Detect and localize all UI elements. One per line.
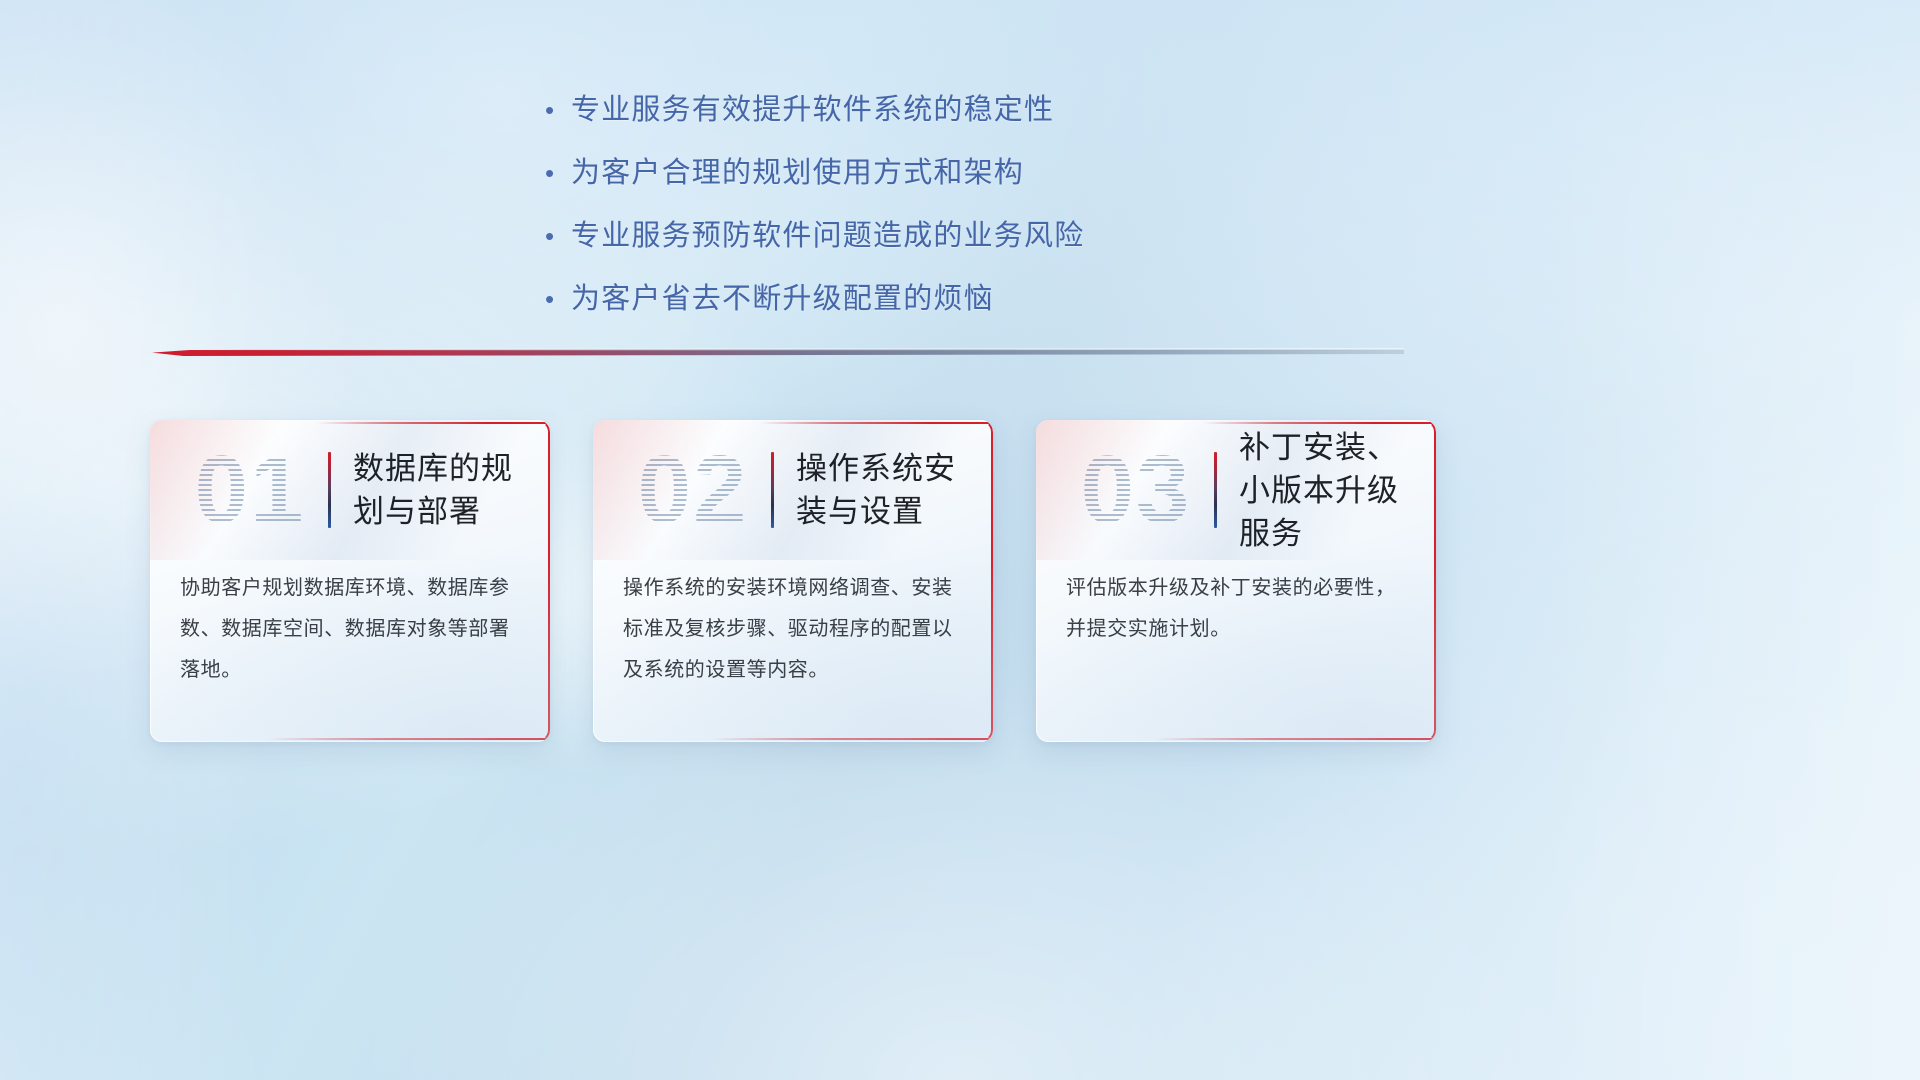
card-header: 02 操作系统安装与设置 [593,420,993,560]
bullet-text: 为客户省去不断升级配置的烦恼 [571,279,994,319]
card-body-text: 操作系统的安装环境网络调查、安装标准及复核步骤、驱动程序的配置以及系统的设置等内… [593,560,993,691]
card-divider-rule [771,452,774,528]
card-body-text: 协助客户规划数据库环境、数据库参数、数据库空间、数据库对象等部署落地。 [150,560,550,691]
card-number-watermark: 01 [176,434,324,546]
list-item: • 为客户省去不断升级配置的烦恼 [545,279,1084,342]
card-title: 补丁安装、小版本升级服务 [1239,426,1410,555]
bullet-text: 专业服务预防软件问题造成的业务风险 [571,216,1084,256]
card-title: 操作系统安装与设置 [796,447,967,533]
service-card-03[interactable]: 03 补丁安装、小版本升级服务 评估版本升级及补丁安装的必要性，并提交实施计划。 [1036,420,1436,742]
list-item: • 专业服务预防软件问题造成的业务风险 [545,216,1084,279]
bullet-text: 为客户合理的规划使用方式和架构 [571,153,1024,193]
bullet-text: 专业服务有效提升软件系统的稳定性 [571,90,1054,130]
bullet-list: • 专业服务有效提升软件系统的稳定性 • 为客户合理的规划使用方式和架构 • 专… [545,90,1084,342]
card-divider-rule [328,452,331,528]
service-card-02[interactable]: 02 操作系统安装与设置 操作系统的安装环境网络调查、安装标准及复核步骤、驱动程… [593,420,993,742]
card-title: 数据库的规划与部署 [353,447,524,533]
list-item: • 专业服务有效提升软件系统的稳定性 [545,90,1084,153]
bullet-dot-icon: • [545,216,571,256]
card-header: 01 数据库的规划与部署 [150,420,550,560]
bullet-dot-icon: • [545,279,571,319]
list-item: • 为客户合理的规划使用方式和架构 [545,153,1084,216]
card-number-watermark: 03 [1062,434,1210,546]
bullet-dot-icon: • [545,153,571,193]
card-number-watermark: 02 [619,434,767,546]
card-divider-rule [1214,452,1217,528]
card-list: 01 数据库的规划与部署 协助客户规划数据库环境、数据库参数、数据库空间、数据库… [150,420,1436,742]
service-card-01[interactable]: 01 数据库的规划与部署 协助客户规划数据库环境、数据库参数、数据库空间、数据库… [150,420,550,742]
card-header: 03 补丁安装、小版本升级服务 [1036,420,1436,560]
section-divider [152,345,1404,363]
bullet-dot-icon: • [545,90,571,130]
card-body-text: 评估版本升级及补丁安装的必要性，并提交实施计划。 [1036,560,1436,650]
